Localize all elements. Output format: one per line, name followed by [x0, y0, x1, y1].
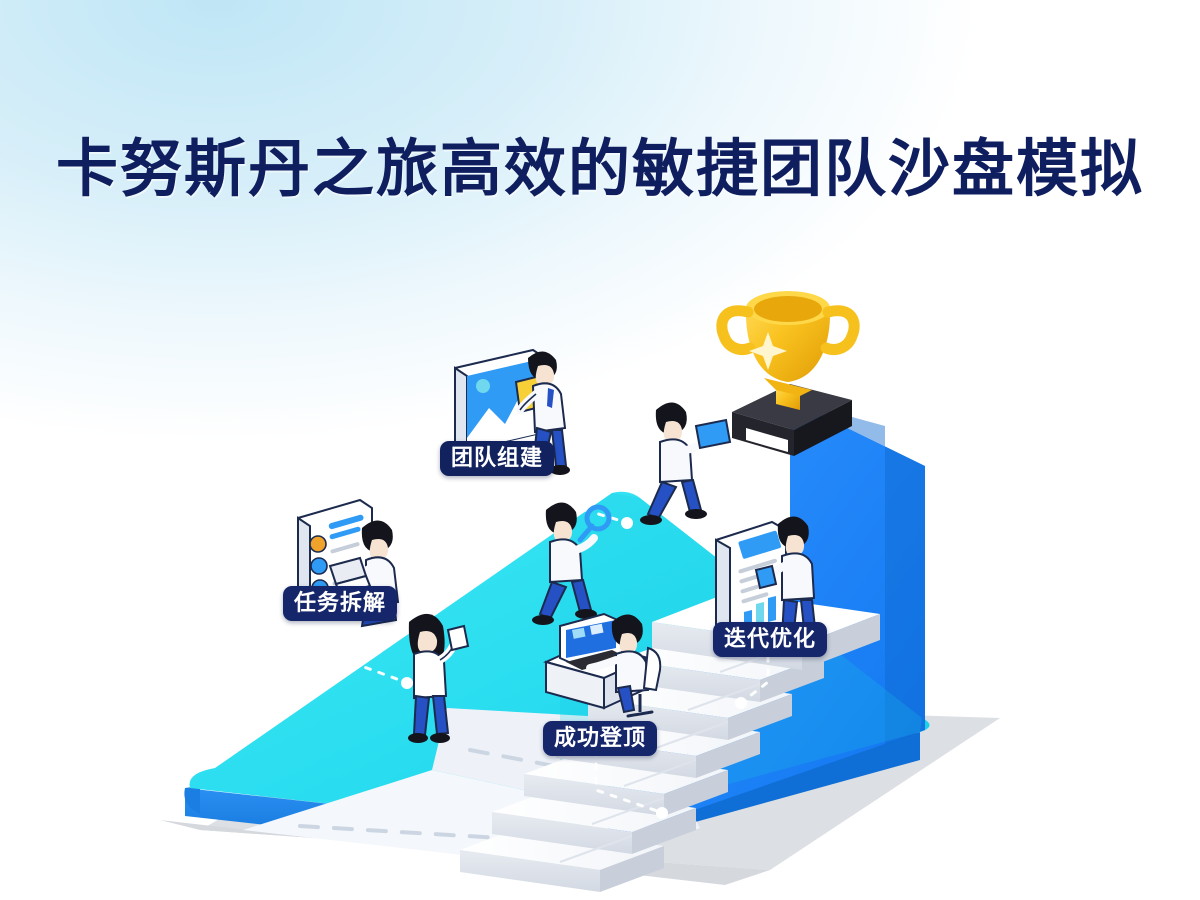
figures-layer	[0, 230, 1200, 890]
isometric-scene: 团队组建 任务拆解 迭代优化 成功登顶	[0, 230, 1200, 890]
desktop-computer	[546, 614, 660, 716]
page-title: 卡努斯丹之旅高效的敏捷团队沙盘模拟	[0, 118, 1200, 208]
figure-walker-tablet	[408, 614, 468, 743]
figure-stair-magnifier	[532, 502, 609, 625]
label-task-breakdown[interactable]: 任务拆解	[283, 586, 397, 621]
label-summit-success[interactable]: 成功登顶	[543, 721, 657, 756]
label-iterate-optimize[interactable]: 迭代优化	[713, 622, 827, 657]
label-team-building[interactable]: 团队组建	[440, 441, 554, 476]
figure-stair-climber	[640, 402, 730, 525]
slide-canvas: 卡努斯丹之旅高效的敏捷团队沙盘模拟	[0, 0, 1200, 900]
